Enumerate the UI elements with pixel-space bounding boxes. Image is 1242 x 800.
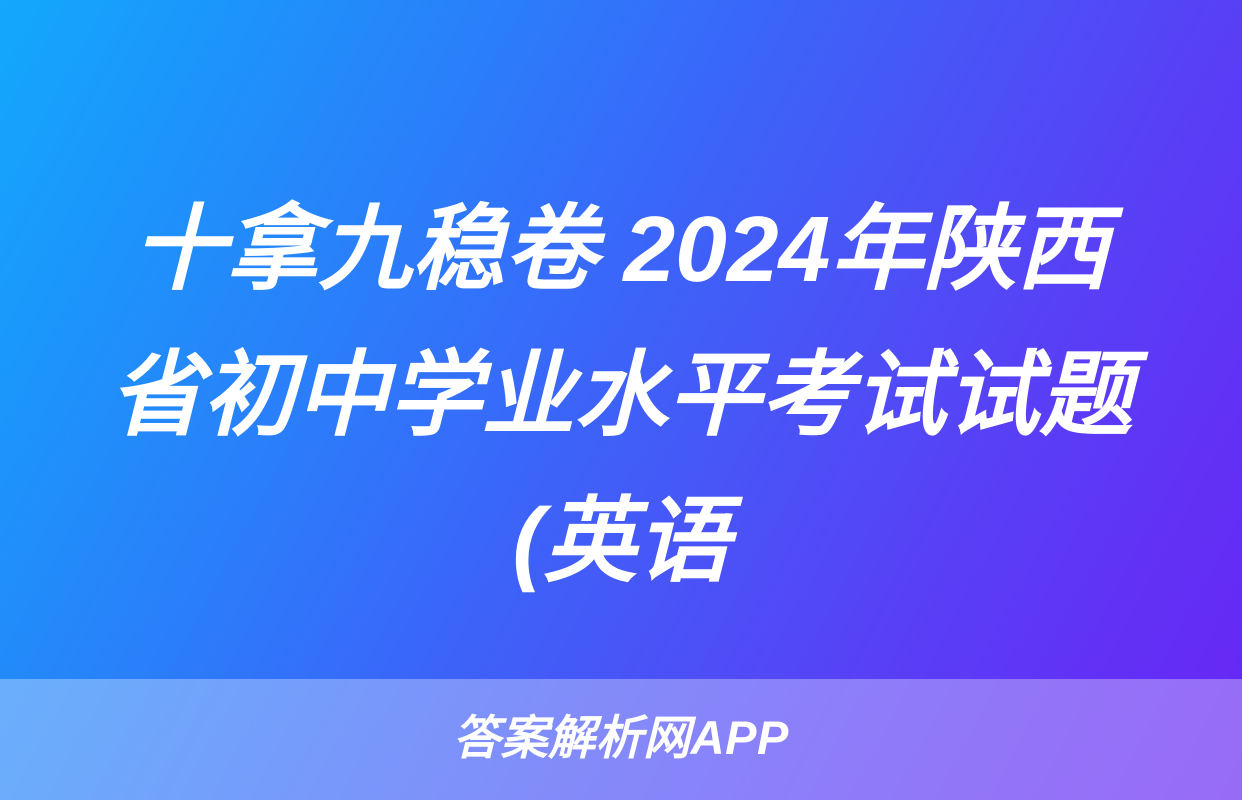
page-title: 十拿九稳卷 2024年陕西 省初中学业水平考试试题 (英语 (0, 176, 1242, 614)
title-line-1: 十拿九稳卷 2024年陕西 (70, 176, 1172, 322)
exam-title-card: 十拿九稳卷 2024年陕西 省初中学业水平考试试题 (英语 答案解析网APP (0, 0, 1242, 800)
watermark-app-label: 答案解析网APP (453, 714, 789, 761)
watermark-band: 答案解析网APP (0, 679, 1242, 800)
title-line-3: (英语 (70, 468, 1172, 614)
title-line-2: 省初中学业水平考试试题 (70, 322, 1172, 468)
